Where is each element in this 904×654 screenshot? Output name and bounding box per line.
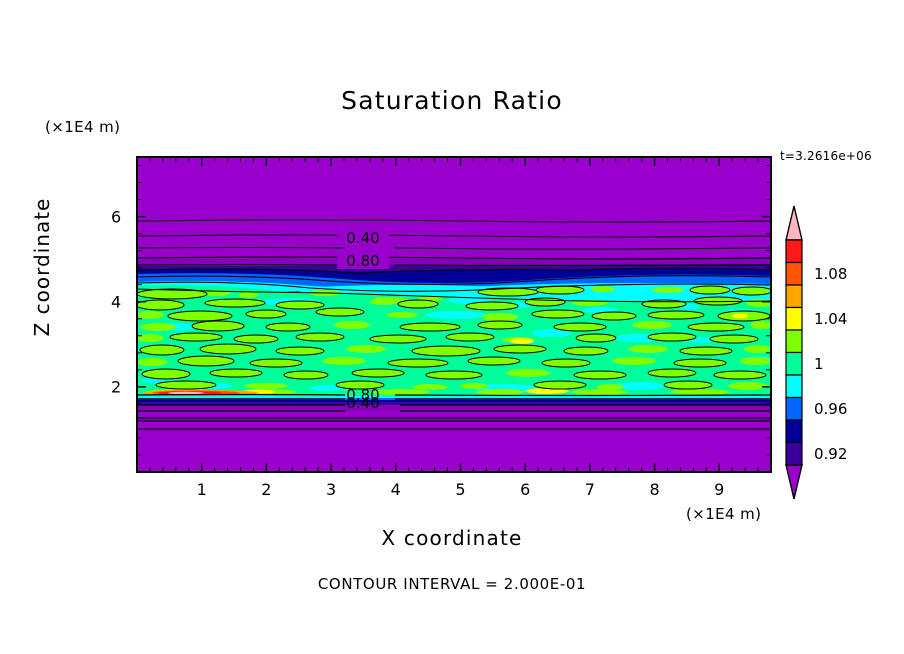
contour-label: 0.80 <box>346 252 379 270</box>
contour-field: 0.40 0.80 0.80 0.40 <box>136 157 774 472</box>
x-tick-label: 6 <box>520 480 530 499</box>
y-tick-label: 4 <box>111 292 121 311</box>
x-tick-label: 2 <box>261 480 271 499</box>
x-tick-label: 7 <box>585 480 595 499</box>
x-tick-label: 3 <box>326 480 336 499</box>
y-tick-label: 2 <box>111 377 121 396</box>
colorbar <box>786 206 802 499</box>
colorbar-tick-label: 1.04 <box>814 310 847 328</box>
x-tick-label: 5 <box>455 480 465 499</box>
colorbar-tick-label: 1.08 <box>814 265 847 283</box>
contour-label: 0.40 <box>346 229 379 247</box>
contour-label: 0.40 <box>346 394 379 412</box>
colorbar-tick-label: 1 <box>814 355 824 373</box>
colorbar-tick-label: 0.96 <box>814 400 847 418</box>
colorbar-tick-label: 0.92 <box>814 445 847 463</box>
x-tick-label: 9 <box>714 480 724 499</box>
x-tick-label: 8 <box>649 480 659 499</box>
x-tick-label: 4 <box>391 480 401 499</box>
x-tick-label: 1 <box>197 480 207 499</box>
figure-canvas: Saturation Ratio (×1E4 m) t=3.2616e+06 Z… <box>0 0 904 654</box>
y-tick-label: 6 <box>111 207 121 226</box>
contour-plot: 0.40 0.80 0.80 0.40 <box>0 0 904 654</box>
